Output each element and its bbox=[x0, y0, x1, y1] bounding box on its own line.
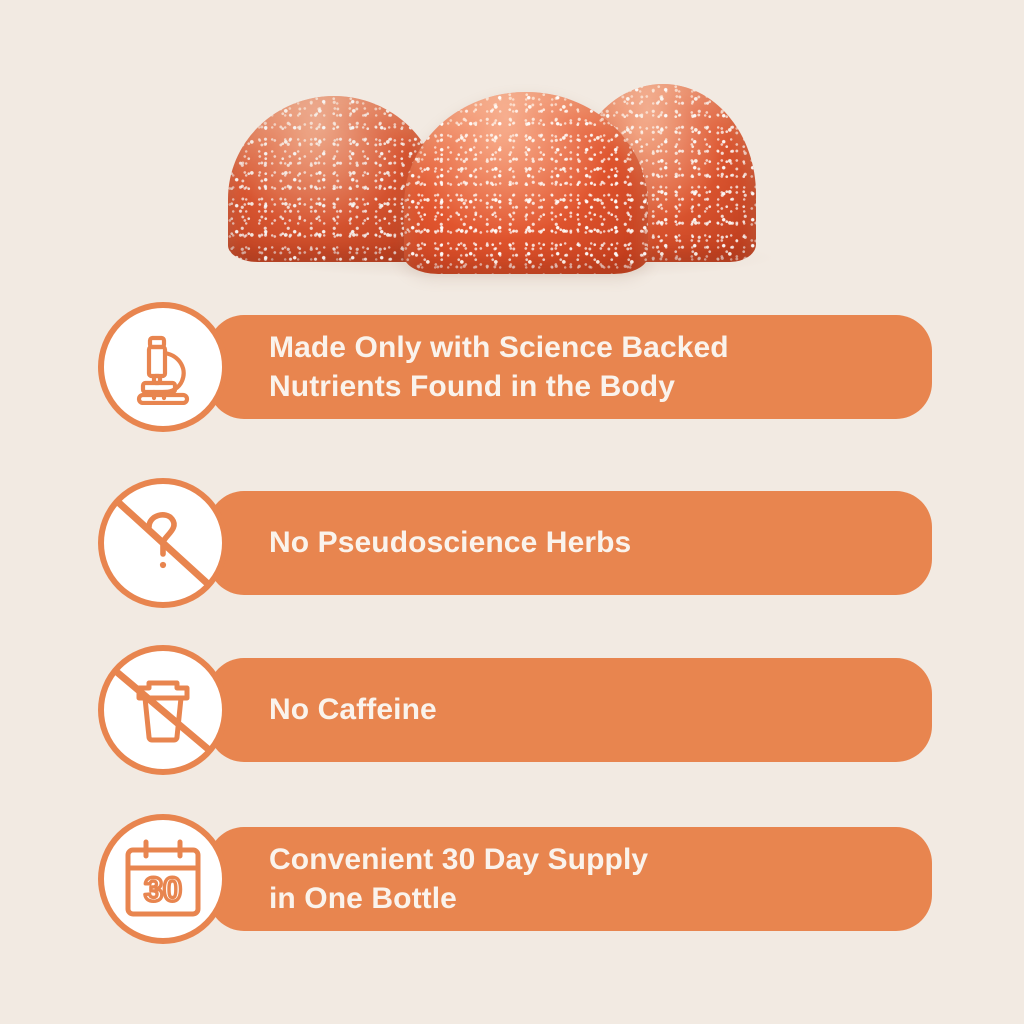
benefit-bar: No Pseudoscience Herbs bbox=[208, 491, 932, 595]
benefit-badge bbox=[98, 302, 228, 432]
benefit-bar: Made Only with Science Backed Nutrients … bbox=[208, 315, 932, 419]
calendar-30-icon: 30 bbox=[120, 838, 206, 920]
benefit-bar: Convenient 30 Day Supply in One Bottle bbox=[208, 827, 932, 931]
microscope-icon bbox=[125, 329, 201, 405]
benefit-label: No Caffeine bbox=[269, 690, 437, 729]
benefit-badge bbox=[98, 645, 228, 775]
benefit-badge: 30 bbox=[98, 814, 228, 944]
no-question-mark-icon bbox=[104, 484, 222, 602]
no-coffee-cup-icon bbox=[104, 651, 222, 769]
calendar-day-number: 30 bbox=[144, 871, 182, 909]
benefit-label: Made Only with Science Backed Nutrients … bbox=[269, 328, 729, 407]
benefit-label: No Pseudoscience Herbs bbox=[269, 523, 631, 562]
benefit-bar: No Caffeine bbox=[208, 658, 932, 762]
benefit-badge bbox=[98, 478, 228, 608]
benefit-label: Convenient 30 Day Supply in One Bottle bbox=[269, 840, 648, 919]
